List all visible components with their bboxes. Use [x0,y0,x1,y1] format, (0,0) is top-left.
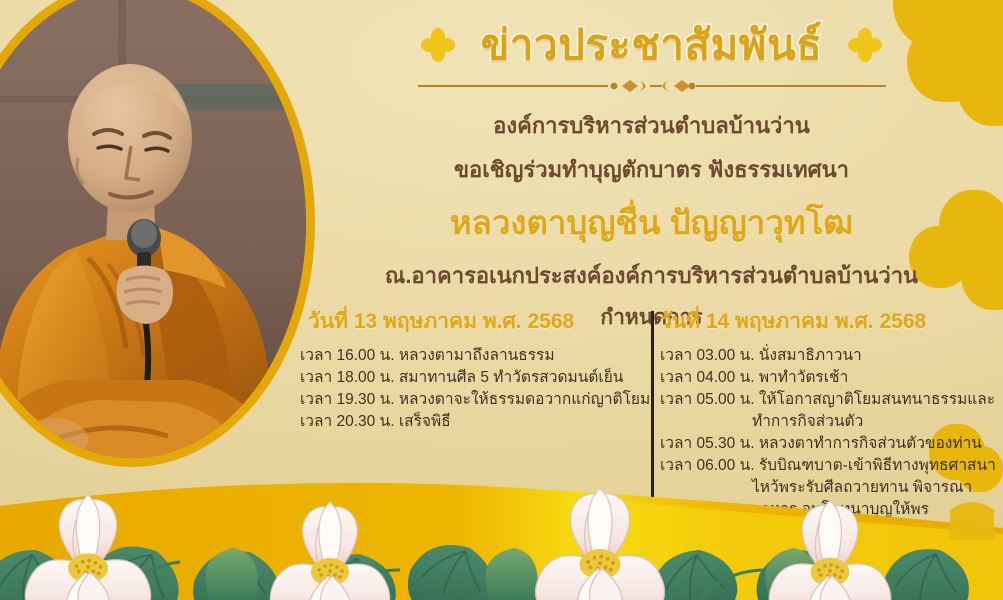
ornamental-divider-icon [412,78,892,94]
schedule-row-text: เวลา 03.00 น. นั่งสมาธิภาวนา [660,347,862,364]
venue-line: ณ.อาคารอเนกประสงค์องค์การบริหารส่วนตำบลบ… [300,258,1003,293]
monk-name: หลวงตาบุญชื่น ปัญญาวุทโฒ [300,196,1003,249]
schedule-row: เวลา 05.00 น. ให้โอกาสญาติโยมสนทนาธรรมแล… [660,389,995,433]
poster-canvas: ข่าวประชาสัมพันธ์ องค์การบริหารส่วนตำบลบ… [0,0,1003,600]
schedule-row: เวลา 04.00 น. พาทำวัตรเช้า [660,367,995,389]
title-row: ข่าวประชาสัมพันธ์ [300,14,1003,76]
schedule-row-text: เวลา 20.30 น. เสร็จพิธี [300,413,451,430]
quatrefoil-flower-icon [848,28,882,62]
schedule-row: เวลา 20.30 น. เสร็จพิธี [300,411,640,433]
schedule-row-text: เวลา 16.00 น. หลวงตามาถึงลานธรรม [300,347,555,364]
quatrefoil-flower-icon [421,28,455,62]
schedule-row-text: เวลา 19.30 น. หลวงตาจะให้ธรรมดอวากแก่ญาต… [300,391,650,408]
schedule-rows-day1: เวลา 16.00 น. หลวงตามาถึงลานธรรมเวลา 18.… [300,345,640,433]
schedule-row-text: เวลา 05.30 น. หลวงตาทำการกิจส่วนตัวของท่… [660,435,982,452]
schedule-row: เวลา 03.00 น. นั่งสมาธิภาวนา [660,345,995,367]
header: ข่าวประชาสัมพันธ์ องค์การบริหารส่วนตำบลบ… [300,14,1003,334]
schedule-row-text: เวลา 04.00 น. พาทำวัตรเช้า [660,369,848,386]
schedule-date-day1: วันที่ 13 พฤษภาคม พ.ศ. 2568 [300,305,640,338]
invitation-line: ขอเชิญร่วมทำบุญตักบาตร ฟังธรรมเทศนา [300,152,1003,187]
organization-name: องค์การบริหารส่วนตำบลบ้านว่าน [300,108,1003,143]
schedule-row-text: เวลา 05.00 น. ให้โอกาสญาติโยมสนทนาธรรมแล… [660,391,995,408]
schedule-row: เวลา 05.30 น. หลวงตาทำการกิจส่วนตัวของท่… [660,433,995,455]
schedule-row-text: เวลา 18.00 น. สมาทานศีล 5 ทำวัตรสวดมนต์เ… [300,369,623,386]
schedule-date-day2: วันที่ 14 พฤษภาคม พ.ศ. 2568 [660,305,995,338]
schedule-row: เวลา 18.00 น. สมาทานศีล 5 ทำวัตรสวดมนต์เ… [300,367,640,389]
schedule-row: เวลา 19.30 น. หลวงตาจะให้ธรรมดอวากแก่ญาต… [300,389,640,411]
page-title: ข่าวประชาสัมพันธ์ [481,12,823,78]
schedule-row-continuation: ทำการกิจส่วนตัว [660,411,995,433]
schedule-column-day1: วันที่ 13 พฤษภาคม พ.ศ. 2568 เวลา 16.00 น… [300,305,640,433]
lotus-decoration-band [0,470,1003,600]
schedule-row: เวลา 16.00 น. หลวงตามาถึงลานธรรม [300,345,640,367]
